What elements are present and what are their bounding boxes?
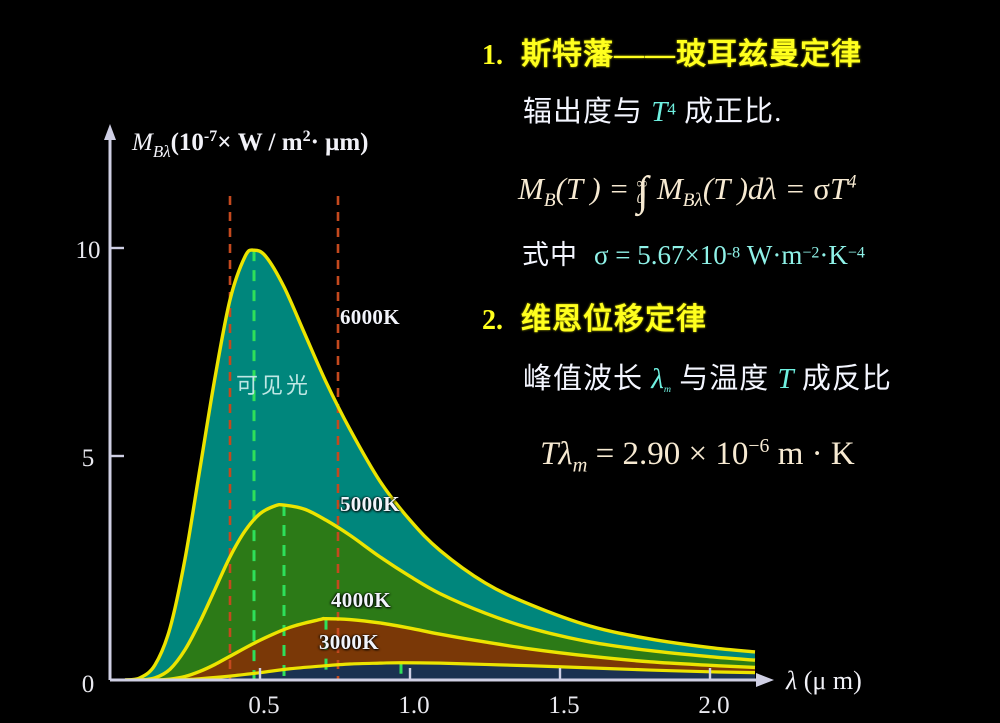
formula-inner-sub: Bλ bbox=[683, 190, 703, 211]
stefan-boltzmann-formula: MB(T ) = ∫∞0 MBλ(T )dλ = σT4 bbox=[518, 168, 857, 216]
law1-title: 斯特藩——玻耳兹曼定律 bbox=[521, 38, 862, 71]
sigma-value-exponent: -8 bbox=[727, 245, 740, 262]
law1-statement-symbol: T bbox=[651, 96, 667, 128]
x-tick-label-0.5: 0.5 bbox=[248, 692, 279, 719]
law2-statement: 峰值波长 λm 与温度 T 成反比 bbox=[523, 365, 892, 395]
curve-label-3000k: 3000K bbox=[319, 630, 379, 655]
x-axis-title-lambda: λ bbox=[785, 666, 797, 695]
x-tick-label-2.0: 2.0 bbox=[698, 692, 729, 719]
y-axis-arrow bbox=[104, 124, 116, 140]
y-axis-title-exp2: 2 bbox=[303, 128, 311, 145]
law2-number: 2. bbox=[482, 305, 503, 336]
y-axis-title-open: (10 bbox=[171, 129, 204, 156]
curve-label-4000k: 4000K bbox=[331, 588, 391, 613]
formula-lhs-sub: B bbox=[544, 190, 556, 211]
y-axis-title-times: × W / m bbox=[217, 129, 302, 156]
law2-heading-row: 2. 维恩位移定律 bbox=[482, 305, 707, 335]
y-tick-label-5: 5 bbox=[82, 445, 95, 472]
y-axis-title-M: M bbox=[131, 129, 154, 156]
formula-lhs-M: M bbox=[518, 171, 544, 206]
sigma-constant-row: 式中 σ = 5.67×10-8 W·m−2·K−4 bbox=[522, 242, 865, 269]
integral-limits: ∞0 bbox=[637, 177, 648, 207]
visible-light-label: 可见光 bbox=[236, 368, 311, 400]
curve-label-5000k: 5000K bbox=[340, 492, 400, 517]
law1-statement-exponent: 4 bbox=[667, 100, 676, 119]
sigma-value: σ = 5.67×10 bbox=[594, 240, 727, 270]
x-axis-arrow bbox=[756, 673, 774, 687]
sigma-unit: W·m bbox=[740, 240, 802, 270]
formula-sigma: σ bbox=[813, 171, 830, 206]
wien-lambda-subscript: m bbox=[573, 455, 588, 477]
law1-statement-pre: 辐出度与 bbox=[523, 96, 651, 128]
y-tick-label-10: 10 bbox=[76, 237, 101, 264]
law1-statement-post: 成正比. bbox=[676, 96, 783, 128]
sigma-unit-exponent: −2 bbox=[802, 245, 819, 262]
wien-lambda: λ bbox=[558, 436, 572, 472]
chart-svg: 10 5 0 0.5 1.0 1.5 2.0 MBλ(10-7× W / m2·… bbox=[0, 0, 1000, 723]
wien-unit: m · K bbox=[769, 436, 854, 472]
law1-statement: 辐出度与 T4 成正比. bbox=[523, 98, 782, 127]
wien-formula: Tλm = 2.90 × 10−6 m · K bbox=[540, 435, 855, 478]
law2-statement-mid: 与温度 bbox=[671, 363, 778, 395]
y-axis-title-exp: -7 bbox=[204, 128, 217, 145]
law2-statement-post: 成反比 bbox=[794, 363, 892, 395]
sigma-prefix: 式中 bbox=[522, 240, 578, 270]
wien-exponent: −6 bbox=[748, 435, 769, 457]
law1-heading-row: 1. 斯特藩——玻耳兹曼定律 bbox=[482, 40, 862, 70]
sigma-unit-exponent2: −4 bbox=[848, 245, 865, 262]
wien-T: T bbox=[540, 436, 558, 472]
x-axis-title: λ (μ m) bbox=[785, 666, 862, 695]
slide-root: 10 5 0 0.5 1.0 1.5 2.0 MBλ(10-7× W / m2·… bbox=[0, 0, 1000, 723]
x-tick-label-1.0: 1.0 bbox=[398, 692, 429, 719]
wien-rhs: = 2.90 × 10 bbox=[587, 436, 748, 472]
y-tick-label-0: 0 bbox=[82, 671, 95, 698]
formula-inner-M: M bbox=[657, 171, 683, 206]
x-axis-title-unit: (μ m) bbox=[797, 666, 861, 695]
blackbody-radiation-chart: 10 5 0 0.5 1.0 1.5 2.0 MBλ(10-7× W / m2·… bbox=[0, 0, 1000, 723]
y-axis-title-sub: Bλ bbox=[153, 142, 171, 161]
law2-lambda-symbol: λ bbox=[651, 363, 664, 395]
integral-lower-limit: 0 bbox=[637, 192, 648, 207]
sigma-unit-tail: ·K bbox=[819, 240, 848, 270]
formula-inner-arg: (T )dλ = bbox=[703, 171, 806, 206]
law2-T-symbol: T bbox=[778, 363, 794, 395]
y-axis-title: MBλ(10-7× W / m2· μm) bbox=[131, 128, 368, 161]
law2-statement-pre: 峰值波长 bbox=[523, 363, 651, 395]
law2-title: 维恩位移定律 bbox=[521, 303, 707, 336]
y-axis-title-tail: · μm) bbox=[311, 129, 369, 156]
formula-lhs-arg: (T ) = bbox=[556, 171, 630, 206]
formula-rhs-exponent: 4 bbox=[847, 172, 856, 193]
law2-lambda-subscript: m bbox=[664, 384, 671, 395]
integral-upper-limit: ∞ bbox=[637, 177, 648, 192]
formula-rhs-T: T bbox=[830, 171, 847, 206]
law1-number: 1. bbox=[482, 40, 503, 71]
x-tick-label-1.5: 1.5 bbox=[548, 692, 579, 719]
curve-label-6000k: 6000K bbox=[340, 305, 400, 330]
